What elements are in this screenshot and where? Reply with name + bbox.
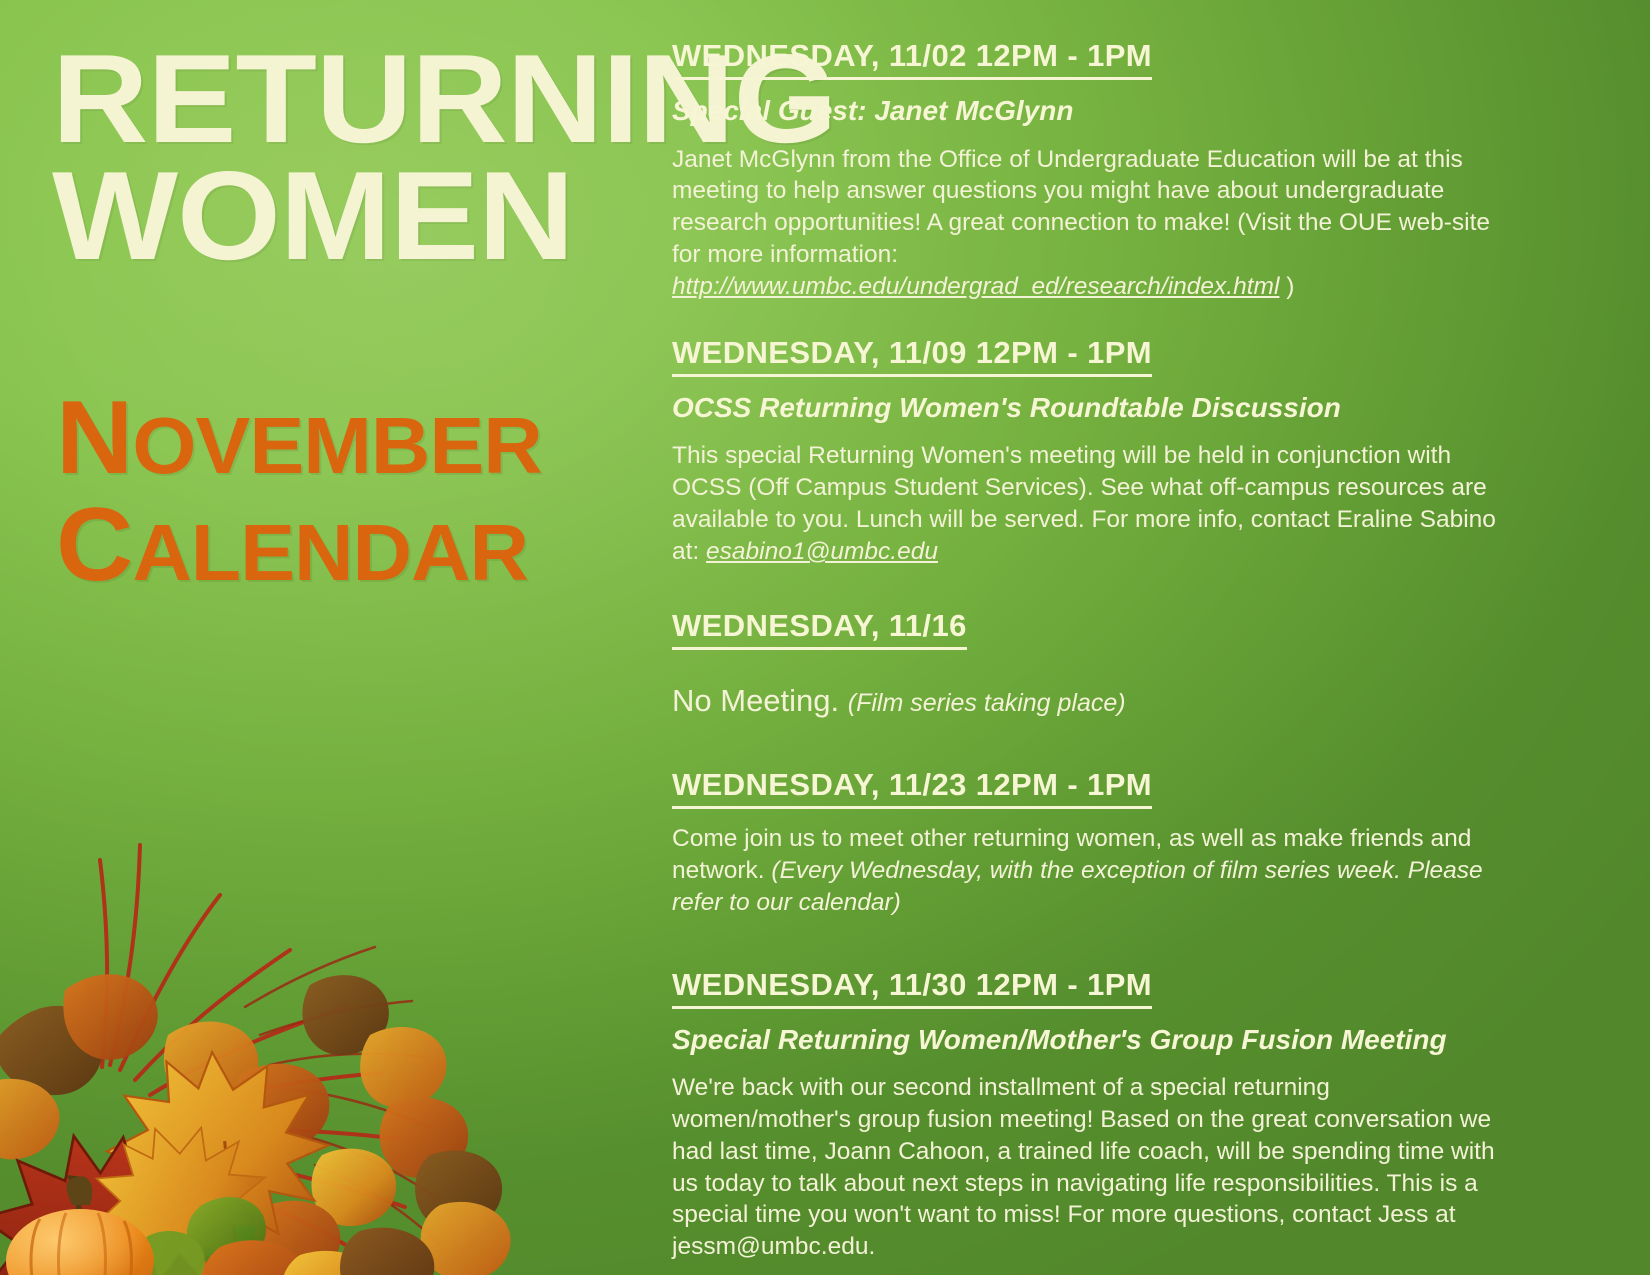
- spacer: [672, 925, 1512, 967]
- spacer: [672, 574, 1512, 608]
- subtitle-line-november: NOVEMBER: [56, 385, 674, 492]
- event-body-note-11-23: (Every Wednesday, with the exception of …: [672, 857, 1483, 916]
- event-date-11-09: WEDNESDAY, 11/09 12PM - 1PM: [672, 335, 1152, 377]
- returning-women-november-calendar-poster: RETURNING WOMEN NOVEMBER CALENDAR: [0, 0, 1650, 1275]
- oue-research-link[interactable]: http://www.umbc.edu/undergrad_ed/researc…: [672, 273, 1279, 300]
- event-body-11-23: Come join us to meet other returning wom…: [672, 823, 1512, 919]
- event-body-11-02: Janet McGlynn from the Office of Undergr…: [672, 144, 1512, 303]
- subtitle-calendar-rest: ALENDAR: [132, 508, 528, 597]
- page-title: RETURNING WOMEN: [52, 40, 652, 274]
- eraline-sabino-email-link[interactable]: esabino1@umbc.edu: [706, 538, 938, 565]
- event-date-11-30: WEDNESDAY, 11/30 12PM - 1PM: [672, 967, 1152, 1009]
- event-11-09: WEDNESDAY, 11/09 12PM - 1PM OCSS Returni…: [672, 335, 1512, 568]
- no-meeting-text: No Meeting.: [672, 683, 839, 718]
- event-body-11-09: This special Returning Women's meeting w…: [672, 440, 1512, 567]
- no-meeting-note: (Film series taking place): [848, 689, 1126, 717]
- spacer: [672, 664, 1512, 682]
- spacer: [672, 725, 1512, 767]
- event-subtitle-11-02: Special Guest: Janet McGlynn: [672, 94, 1512, 128]
- subtitle-line-calendar: CALENDAR: [56, 492, 674, 599]
- event-11-30: WEDNESDAY, 11/30 12PM - 1PM Special Retu…: [672, 967, 1512, 1264]
- page-subtitle: NOVEMBER CALENDAR: [56, 385, 656, 599]
- event-subtitle-11-30: Special Returning Women/Mother's Group F…: [672, 1023, 1512, 1057]
- spacer: [672, 309, 1512, 335]
- subtitle-november-initial: N: [56, 380, 132, 496]
- title-line-women: WOMEN: [52, 157, 688, 274]
- autumn-leaves-pumpkin-image: [0, 735, 670, 1275]
- event-11-16: WEDNESDAY, 11/16 No Meeting. (Film serie…: [672, 608, 1512, 719]
- left-column: RETURNING WOMEN NOVEMBER CALENDAR: [0, 0, 660, 1275]
- event-date-11-02: WEDNESDAY, 11/02 12PM - 1PM: [672, 38, 1152, 80]
- subtitle-calendar-initial: C: [56, 487, 132, 603]
- title-line-returning: RETURNING: [52, 40, 688, 157]
- event-body-text-11-02: Janet McGlynn from the Office of Undergr…: [672, 146, 1490, 269]
- subtitle-november-rest: OVEMBER: [132, 401, 541, 490]
- event-date-11-23: WEDNESDAY, 11/23 12PM - 1PM: [672, 767, 1152, 809]
- event-11-02: WEDNESDAY, 11/02 12PM - 1PM Special Gues…: [672, 38, 1512, 303]
- event-body-11-16: No Meeting. (Film series taking place): [672, 682, 1512, 719]
- event-subtitle-11-09: OCSS Returning Women's Roundtable Discus…: [672, 391, 1512, 425]
- event-body-11-30: We're back with our second installment o…: [672, 1072, 1512, 1263]
- events-list: WEDNESDAY, 11/02 12PM - 1PM Special Gues…: [672, 38, 1512, 1269]
- event-date-11-16: WEDNESDAY, 11/16: [672, 608, 967, 650]
- event-body-tail-11-02: ): [1279, 273, 1294, 300]
- event-11-23: WEDNESDAY, 11/23 12PM - 1PM Come join us…: [672, 767, 1512, 919]
